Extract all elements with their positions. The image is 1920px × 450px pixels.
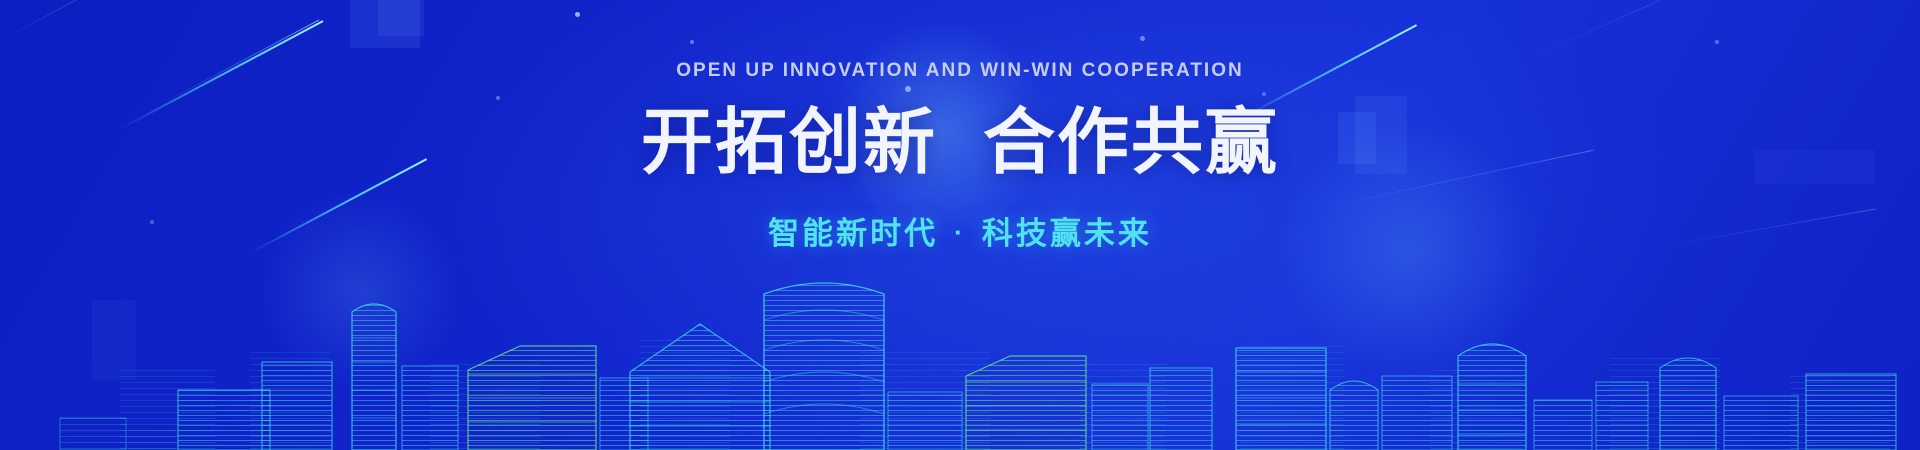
headline-part-2: 合作共赢 xyxy=(983,103,1279,183)
hero-banner: OPEN UP INNOVATION AND WIN-WIN COOPERATI… xyxy=(0,0,1920,450)
headline-part-1: 开拓创新 xyxy=(641,103,937,183)
subline-left: 智能新时代 xyxy=(768,216,938,251)
banner-headline: 开拓创新合作共赢 xyxy=(641,106,1279,182)
subline-separator: · xyxy=(954,217,966,248)
banner-subline: 智能新时代·科技赢未来 xyxy=(768,208,1152,253)
subline-right: 科技赢未来 xyxy=(982,216,1152,251)
banner-eyebrow: OPEN UP INNOVATION AND WIN-WIN COOPERATI… xyxy=(676,60,1243,82)
banner-content: OPEN UP INNOVATION AND WIN-WIN COOPERATI… xyxy=(0,0,1920,450)
